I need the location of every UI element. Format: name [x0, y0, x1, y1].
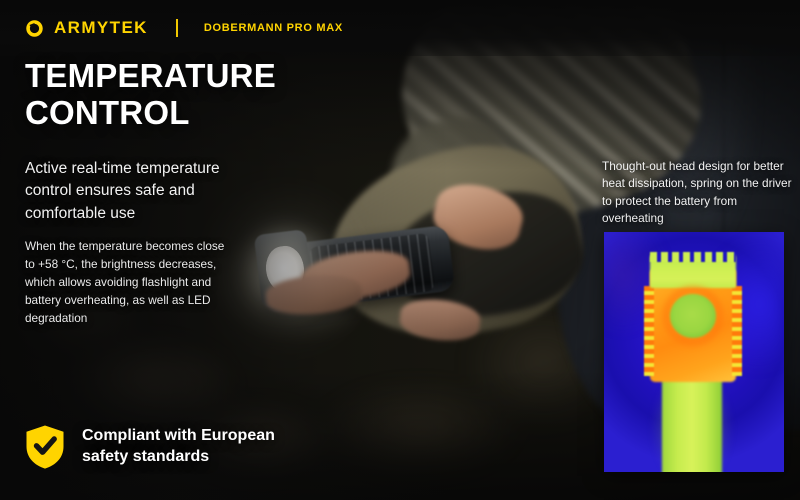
side-note-paragraph: Thought-out head design for better heat …: [602, 158, 792, 228]
lead-paragraph: Active real-time temperature control ens…: [25, 158, 255, 225]
compliance-badge-line-1: Compliant with European: [82, 426, 312, 447]
brand-lockup[interactable]: ARMYTEK: [25, 18, 148, 38]
compliance-badge: Compliant with European safety standards: [24, 424, 312, 470]
body-paragraph: When the temperature becomes close to +5…: [25, 238, 230, 328]
thermal-image: [604, 232, 784, 472]
product-feature-poster: ARMYTEK DOBERMANN PRO MAX TEMPERATURE CO…: [0, 0, 800, 500]
header-divider: [176, 19, 178, 37]
compliance-badge-line-2: safety standards: [82, 447, 312, 468]
brand-name: ARMYTEK: [54, 18, 148, 38]
thermal-bezel-crenellations: [650, 252, 736, 262]
page-title: TEMPERATURE CONTROL: [25, 58, 355, 132]
page-title-line-1: TEMPERATURE: [25, 58, 355, 95]
armytek-ring-logo-icon: [25, 19, 44, 38]
shield-check-icon: [24, 424, 66, 470]
page-title-line-2: CONTROL: [25, 95, 355, 132]
thermal-cooling-fins-right: [732, 286, 742, 376]
thermal-flashlight-shaft: [662, 376, 722, 472]
compliance-badge-text: Compliant with European safety standards: [82, 426, 312, 468]
product-model-label: DOBERMANN PRO MAX: [204, 22, 343, 34]
thermal-cooling-fins-left: [644, 286, 654, 376]
thermal-lens: [670, 294, 716, 338]
brand-header: ARMYTEK DOBERMANN PRO MAX: [0, 0, 800, 56]
